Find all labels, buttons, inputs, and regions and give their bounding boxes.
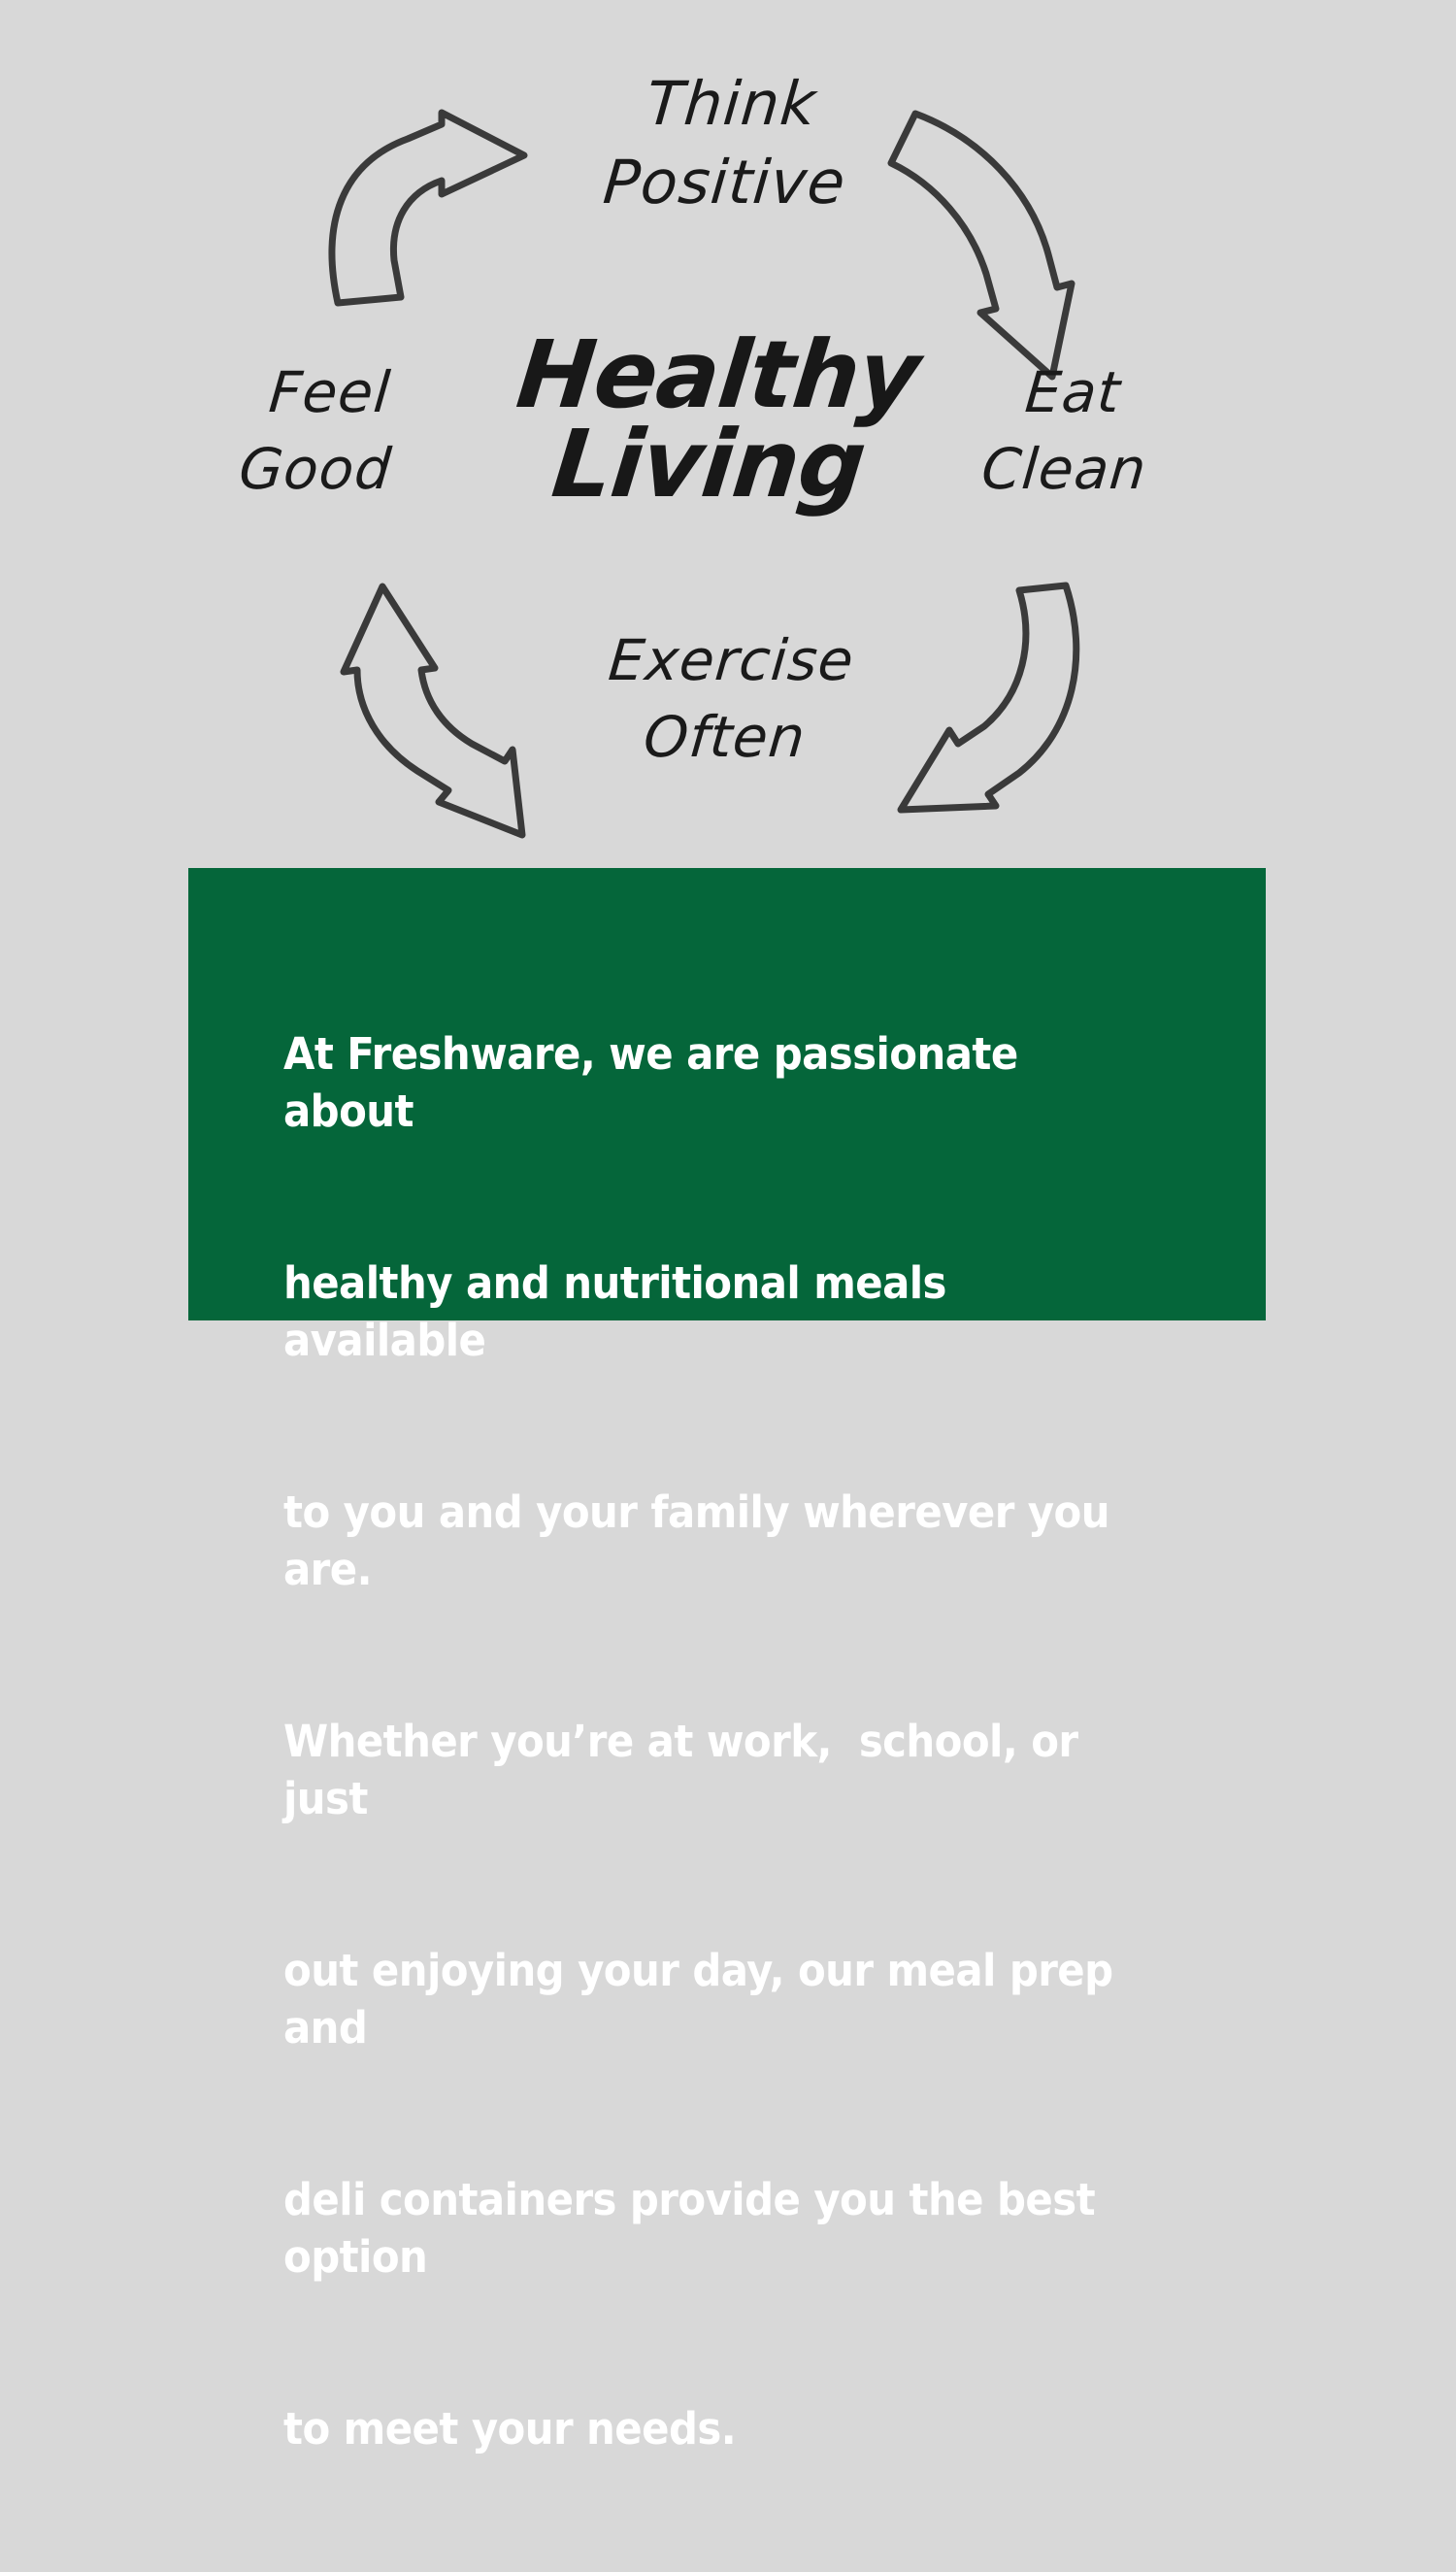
brand-message-line: At Freshware, we are passionate about xyxy=(283,1025,1161,1140)
arrow-bottom-left-icon xyxy=(344,586,522,835)
cycle-label-top: Think Positive xyxy=(537,70,918,217)
cycle-label-top-line1: Think xyxy=(545,70,919,137)
cycle-label-left-line2: Good xyxy=(237,438,485,501)
brand-message-line: Whether you’re at work, school, or just xyxy=(283,1713,1161,1827)
arrow-top-left-icon xyxy=(332,113,524,303)
cycle-label-right-line1: Eat xyxy=(986,361,1244,424)
cycle-label-right-line2: Clean xyxy=(979,438,1238,501)
cycle-label-bottom: Exercise Often xyxy=(533,629,924,769)
cycle-center-title-line2: Living xyxy=(447,421,971,507)
brand-message-line: to meet your needs. xyxy=(283,2400,1161,2457)
cycle-label-left-line1: Feel xyxy=(244,361,492,424)
brand-message-panel: At Freshware, we are passionate about he… xyxy=(188,868,1266,1320)
cycle-center-title: Healthy Living xyxy=(447,332,980,508)
cycle-label-top-line2: Positive xyxy=(537,149,911,216)
healthy-living-cycle-diagram: Think Positive Feel Good Eat Clean Exerc… xyxy=(0,0,1456,854)
cycle-label-bottom-line1: Exercise xyxy=(540,629,924,692)
brand-message-line: out enjoying your day, our meal prep and xyxy=(283,1942,1161,2056)
brand-message-line: to you and your family wherever you are. xyxy=(283,1484,1161,1598)
cycle-label-right: Eat Clean xyxy=(979,361,1244,501)
promo-graphic: Think Positive Feel Good Eat Clean Exerc… xyxy=(0,0,1456,1456)
brand-message-line: healthy and nutritional meals available xyxy=(283,1254,1161,1369)
cycle-center-title-line1: Healthy xyxy=(456,332,979,418)
brand-message-text: At Freshware, we are passionate about he… xyxy=(283,911,1161,2572)
cycle-label-bottom-line2: Often xyxy=(533,706,917,769)
brand-message-line: deli containers provide you the best opt… xyxy=(283,2171,1161,2286)
arrow-bottom-right-icon xyxy=(901,585,1076,810)
